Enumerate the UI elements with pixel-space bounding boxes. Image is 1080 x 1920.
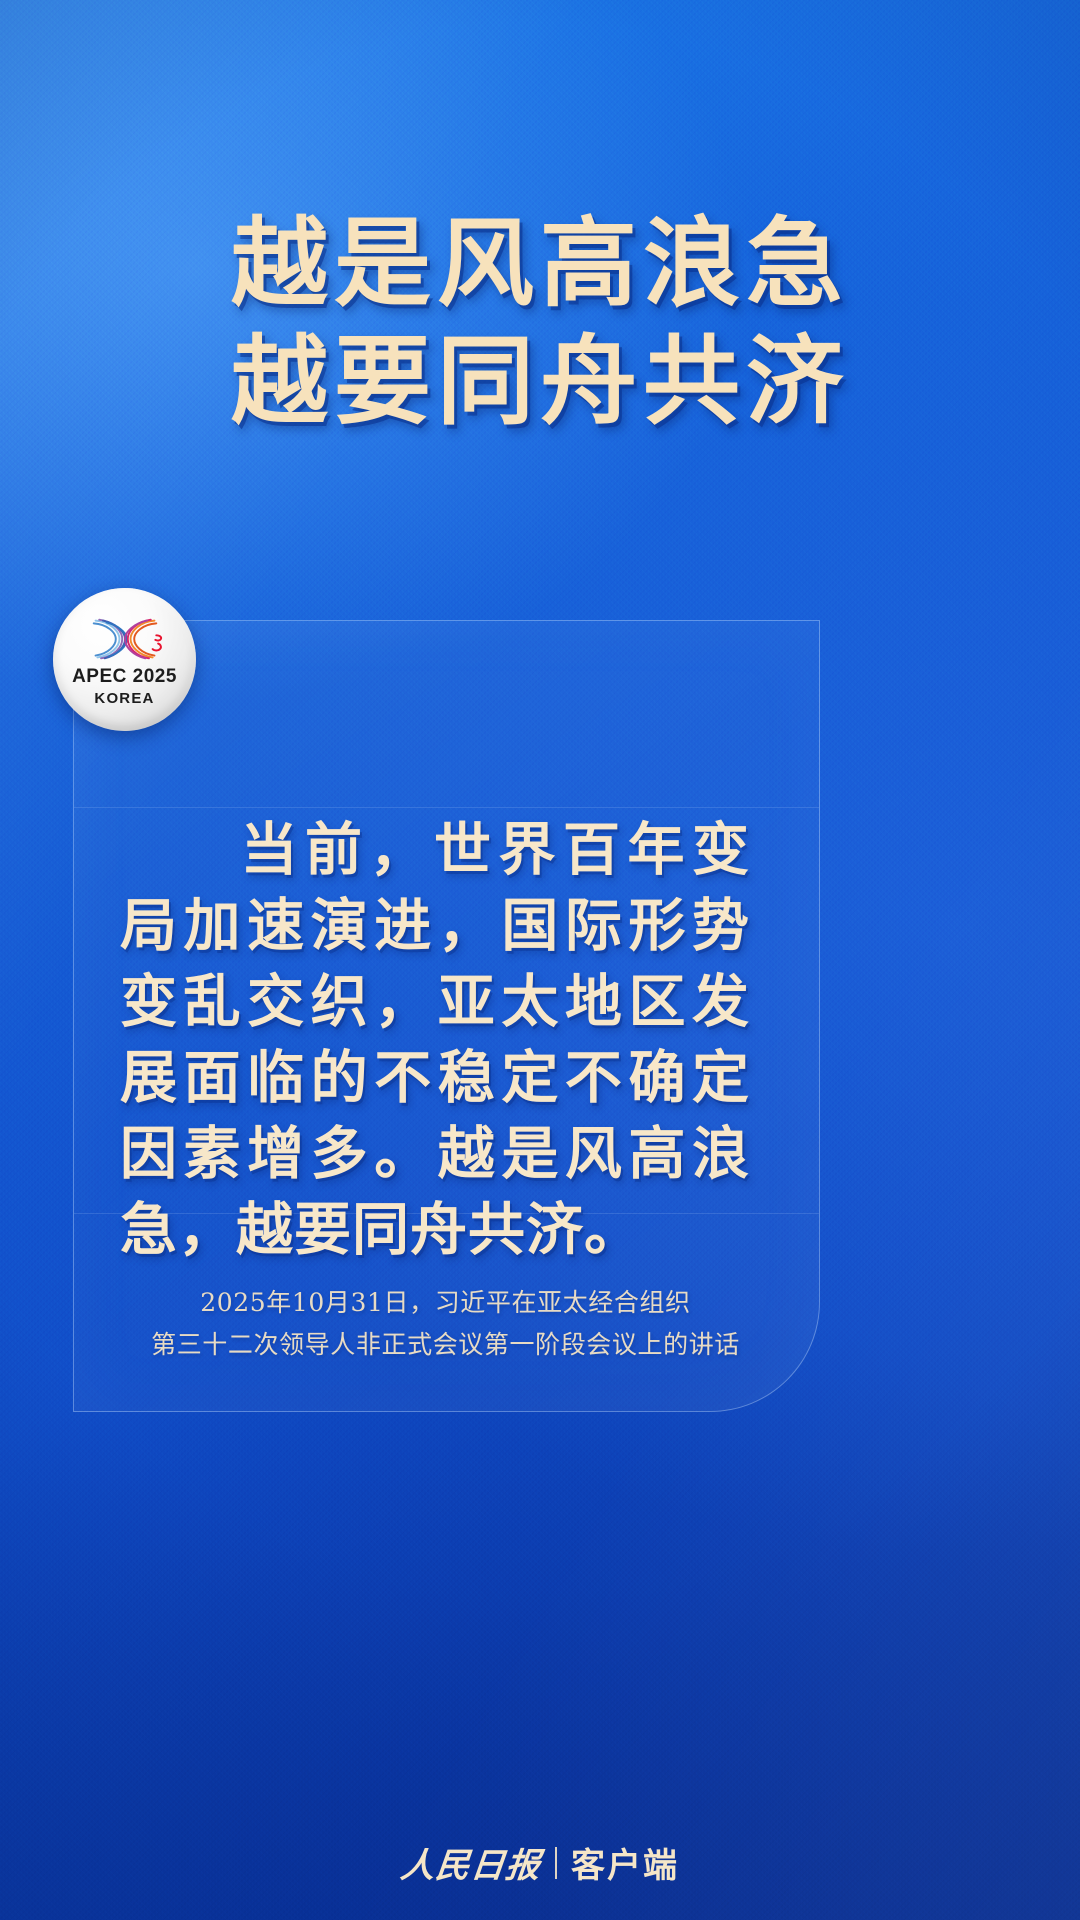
poster-canvas: 越是风高浪急 越要同舟共济 [0,0,1080,1920]
footer-brand-name: 人民日报 [398,1838,543,1887]
footer-logo: 人民日报 客户端 [0,1838,1080,1887]
apec-logo-name: APEC 2025 [72,667,177,686]
apec-emblem-icon [79,615,171,663]
footer-divider [555,1847,557,1879]
quote-body: 当前，世界百年变局加速演进，国际形势变乱交织，亚太地区发展面临的不稳定不确定因素… [120,816,750,1263]
quote-text: 当前，世界百年变局加速演进，国际形势变乱交织，亚太地区发展面临的不稳定不确定因素… [120,812,750,1268]
attribution-line-1: 2025年10月31日，习近平在亚太经合组织 [73,1282,818,1324]
apec-logo-badge: APEC 2025 KOREA [53,588,196,731]
card-stripe-upper [74,807,819,808]
poster-title: 越是风高浪急 越要同舟共济 [0,205,1080,441]
quote-attribution: 2025年10月31日，习近平在亚太经合组织 第三十二次领导人非正式会议第一阶段… [73,1282,818,1366]
attribution-line-2: 第三十二次领导人非正式会议第一阶段会议上的讲话 [73,1324,818,1366]
apec-logo-country: KOREA [94,691,154,706]
title-line-2: 越要同舟共济 [0,323,1080,441]
footer-product-name: 客户端 [571,1838,679,1887]
title-line-1: 越是风高浪急 [0,205,1080,323]
